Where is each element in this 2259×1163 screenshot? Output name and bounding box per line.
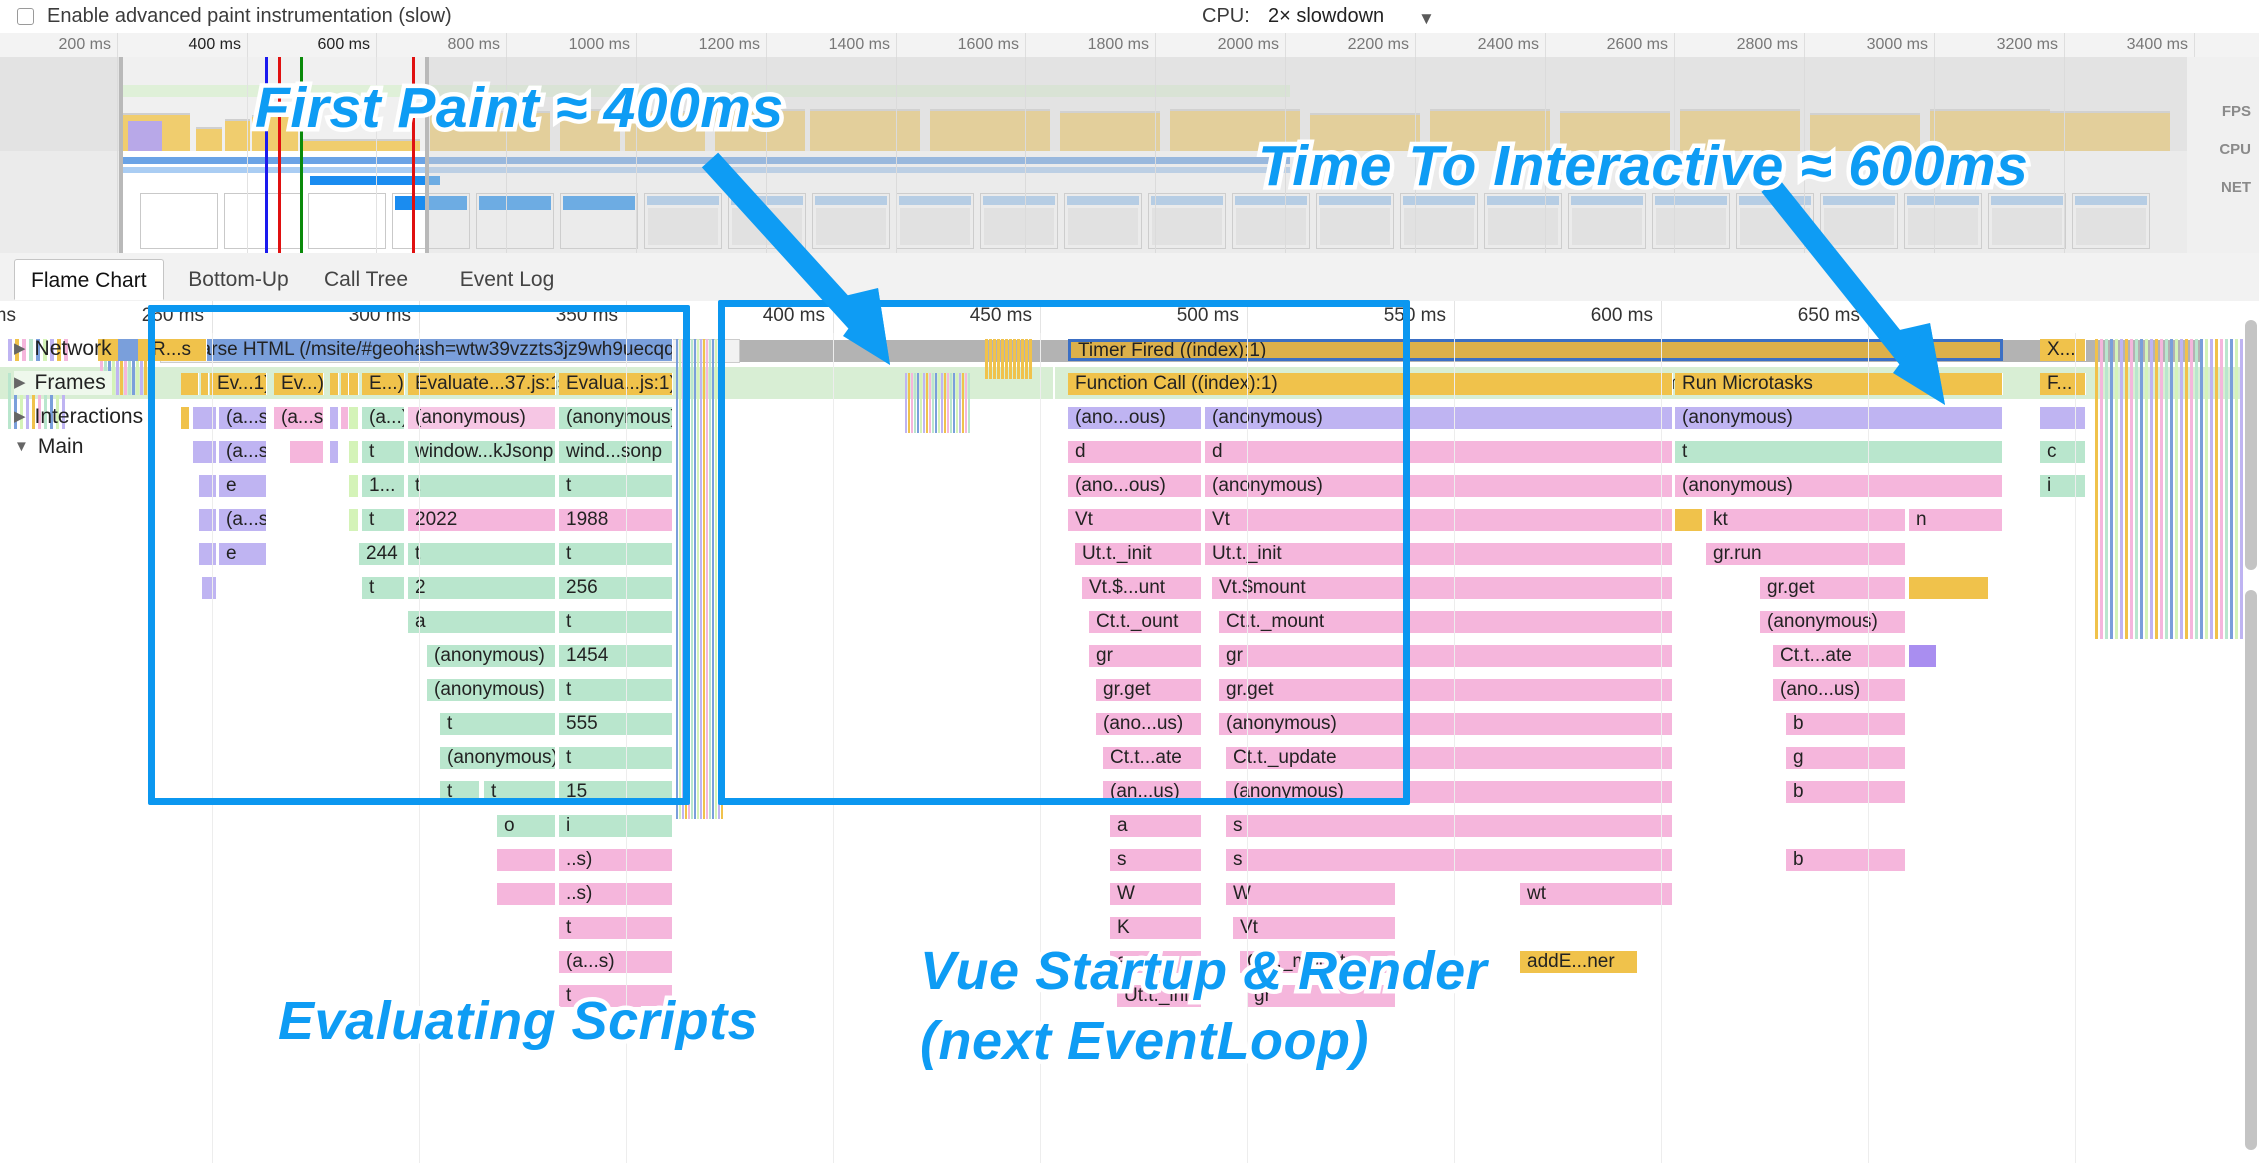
flame-micro-bar[interactable] xyxy=(8,373,11,429)
flame-left-bar[interactable]: (a...) xyxy=(362,407,405,429)
flame-left-bar[interactable] xyxy=(199,509,217,531)
flame-right-bar[interactable]: Vt xyxy=(1205,509,1673,531)
flame-right-bar[interactable]: b xyxy=(1786,713,1906,735)
overview-timeline-ruler[interactable]: 200 ms400 ms600 ms800 ms1000 ms1200 ms14… xyxy=(0,33,2259,58)
flame-right-bar[interactable]: W xyxy=(1226,883,1396,905)
flame-right-bar[interactable]: (ano...us) xyxy=(1096,713,1202,735)
flame-left-bar[interactable] xyxy=(199,543,217,565)
flame-left-bar[interactable]: 2022 xyxy=(408,509,556,531)
flame-left-bar[interactable]: 1... xyxy=(362,475,405,497)
flame-left-bar[interactable] xyxy=(290,441,324,463)
flame-left-bar[interactable]: o xyxy=(497,815,556,837)
track-label-interactions[interactable]: ▶Interactions xyxy=(14,405,143,429)
overview-ruler-label: 400 ms xyxy=(189,36,247,54)
flame-right-bar[interactable]: gr.run xyxy=(1706,543,1906,565)
flame-right-bar[interactable]: Ut.t._init xyxy=(1205,543,1673,565)
flame-left-bar[interactable]: ..s) xyxy=(559,849,673,871)
cpu-throttling-select[interactable]: 2× slowdown xyxy=(1268,5,1384,28)
flame-left-bar[interactable]: t xyxy=(559,917,673,939)
track-name-text: Main xyxy=(38,435,84,458)
flame-right-bar[interactable]: (anonymous) xyxy=(1675,475,2003,497)
flame-right-bar[interactable]: (anonymous) xyxy=(1205,407,1673,429)
flame-micro-bar[interactable] xyxy=(691,339,693,819)
flame-left-bar[interactable]: t xyxy=(440,713,556,735)
flame-left-bar[interactable]: 2 xyxy=(408,577,556,599)
flame-left-bar[interactable]: (anonymous) xyxy=(427,645,556,667)
flame-right-bar[interactable]: gr.get xyxy=(1219,679,1673,701)
flame-left-bar[interactable]: Evalua...js:1) xyxy=(559,373,673,395)
chevron-right-icon[interactable]: ▶ xyxy=(14,373,26,391)
flame-left-bar[interactable]: i xyxy=(559,815,673,837)
flame-left-bar[interactable]: window...kJsonp xyxy=(408,441,556,463)
overview-ruler-label: 600 ms xyxy=(318,36,376,54)
tab-bottom-up[interactable]: Bottom-Up xyxy=(172,259,304,300)
flame-micro-bar[interactable] xyxy=(2175,339,2178,639)
flame-left-bar[interactable]: (a...s) xyxy=(274,407,324,429)
flame-micro-bar[interactable] xyxy=(2130,339,2133,639)
flame-far-right-bar[interactable]: i xyxy=(2040,475,2086,497)
flame-micro-bar[interactable] xyxy=(2135,339,2138,639)
flame-left-bar[interactable]: (a...s) xyxy=(559,951,673,973)
flame-right-bar[interactable]: (anonymous) xyxy=(1226,781,1673,803)
flame-left-bar[interactable]: a xyxy=(408,611,556,633)
overview-ruler-label: 3200 ms xyxy=(1997,36,2064,54)
flame-left-bar[interactable]: (a...s) xyxy=(219,407,267,429)
flame-right-bar[interactable]: W xyxy=(1110,883,1202,905)
flame-micro-bar[interactable] xyxy=(932,373,934,433)
flame-left-bar[interactable]: t xyxy=(559,747,673,769)
flame-right-bar[interactable]: g xyxy=(1786,747,1906,769)
overview-track-labels: FPS CPU NET xyxy=(2187,57,2259,253)
flame-micro-bar[interactable] xyxy=(697,339,699,819)
flame-micro-bar[interactable] xyxy=(1029,339,1032,379)
overview-ruler-label: 2800 ms xyxy=(1737,36,1804,54)
flame-left-bar[interactable]: (anonymous) xyxy=(427,679,556,701)
flame-micro-bar[interactable] xyxy=(2150,339,2153,639)
flame-right-bar[interactable]: s xyxy=(1226,849,1673,871)
flame-left-bar[interactable]: 1988 xyxy=(559,509,673,531)
flame-left-bar[interactable]: t xyxy=(408,475,556,497)
flame-left-bar[interactable]: t xyxy=(559,611,673,633)
flame-ruler-tick xyxy=(1661,301,1662,333)
overview-ruler-label: 1200 ms xyxy=(699,36,766,54)
flame-micro-bar[interactable] xyxy=(2145,339,2148,639)
flame-micro-bar[interactable] xyxy=(1013,339,1016,379)
flame-left-bar[interactable]: E...) xyxy=(362,373,405,395)
flame-micro-bar[interactable] xyxy=(2200,339,2203,639)
flame-right-bar[interactable]: K xyxy=(1110,917,1202,939)
flame-right-bar[interactable]: b xyxy=(1786,849,1906,871)
flame-micro-bar[interactable] xyxy=(968,373,970,433)
flame-left-bar[interactable]: 15 xyxy=(559,781,673,803)
flame-left-bar[interactable] xyxy=(497,883,556,905)
flame-micro-bar[interactable] xyxy=(944,373,946,433)
flame-ruler-label: 350 ms xyxy=(556,305,626,327)
track-name-text: Network xyxy=(35,337,112,360)
flame-left-bar[interactable] xyxy=(199,475,217,497)
flame-right-bar[interactable]: (anonymous) xyxy=(1205,475,1673,497)
flame-micro-bar[interactable] xyxy=(950,373,952,433)
flame-gridline xyxy=(2075,333,2076,1163)
flame-left-bar[interactable] xyxy=(330,441,339,463)
overview-cpu-label: CPU xyxy=(2219,141,2251,158)
overview-net-label: NET xyxy=(2221,179,2251,196)
enable-advanced-paint-label[interactable]: Enable advanced paint instrumentation (s… xyxy=(47,5,452,28)
flame-gridline xyxy=(1454,333,1455,1163)
flame-micro-bar[interactable] xyxy=(2195,339,2198,639)
overview-ruler-tick xyxy=(1025,33,1026,57)
flame-right-bar[interactable]: Ct.t._update xyxy=(1226,747,1673,769)
flame-gridline xyxy=(1868,333,1869,1163)
flame-right-bar[interactable]: Function Call ((index):1) xyxy=(1068,373,1673,395)
track-name-text: Interactions xyxy=(35,405,144,428)
flame-left-bar[interactable] xyxy=(181,407,190,429)
top-toolbar: Enable advanced paint instrumentation (s… xyxy=(0,0,2259,34)
flame-micro-bar[interactable] xyxy=(959,373,961,433)
flame-micro-bar[interactable] xyxy=(2190,339,2193,639)
flame-micro-bar[interactable] xyxy=(926,373,928,433)
flame-micro-bar[interactable] xyxy=(938,373,940,433)
flame-gridline xyxy=(212,333,213,1163)
vertical-scrollbar[interactable] xyxy=(2245,590,2257,1150)
chevron-right-icon[interactable]: ▶ xyxy=(14,407,26,425)
overview-ruler-label: 2200 ms xyxy=(1348,36,1415,54)
flame-left-bar[interactable]: Ev...) xyxy=(274,373,324,395)
overview-ruler-tick xyxy=(506,33,507,57)
tab-event-log[interactable]: Event Log xyxy=(444,259,571,300)
flame-right-bar[interactable] xyxy=(1909,645,1937,667)
flame-micro-bar[interactable] xyxy=(694,339,696,819)
flame-ruler-tick xyxy=(1454,301,1455,333)
overview-ruler-tick xyxy=(2194,33,2195,57)
flame-left-bar[interactable]: 1454 xyxy=(559,645,673,667)
flame-ruler-label: 250 ms xyxy=(142,305,212,327)
cpu-throttling-label: CPU: xyxy=(1202,5,1250,28)
overview-ruler-tick xyxy=(247,33,248,57)
flame-micro-bar[interactable] xyxy=(1005,339,1008,379)
flame-left-bar[interactable]: 244 xyxy=(359,543,405,565)
flame-left-bar[interactable]: (a...s) xyxy=(219,441,267,463)
overview-ruler-label: 3000 ms xyxy=(1867,36,1934,54)
flame-left-bar[interactable]: t xyxy=(559,475,673,497)
flame-micro-bar[interactable] xyxy=(935,373,937,433)
overview-ruler-tick xyxy=(117,33,118,57)
chevron-right-icon[interactable]: ▶ xyxy=(14,339,26,357)
flame-micro-bar[interactable] xyxy=(1025,339,1028,379)
flame-left-bar[interactable] xyxy=(341,373,349,395)
flame-micro-bar[interactable] xyxy=(929,373,931,433)
overview-ruler-label: 200 ms xyxy=(59,36,117,54)
enable-advanced-paint-checkbox[interactable] xyxy=(17,8,34,25)
flame-micro-bar[interactable] xyxy=(2095,339,2098,639)
flame-right-bar[interactable]: (ano...ous) xyxy=(1068,407,1202,429)
flame-left-bar[interactable] xyxy=(193,441,217,463)
flame-left-bar[interactable] xyxy=(201,373,209,395)
flame-ruler-tick xyxy=(212,301,213,333)
overview-ruler-label: 1400 ms xyxy=(829,36,896,54)
flame-micro-bar[interactable] xyxy=(2125,339,2128,639)
flame-micro-bar[interactable] xyxy=(118,339,138,361)
flame-right-bar[interactable]: Ut.t._init xyxy=(1075,543,1202,565)
overview-ruler-tick xyxy=(636,33,637,57)
flame-left-bar[interactable]: Evaluate...37.js:1) xyxy=(408,373,556,395)
flame-ruler-label: 500 ms xyxy=(1177,305,1247,327)
overview-ruler-label: 800 ms xyxy=(448,36,506,54)
flame-left-bar[interactable]: R...s xyxy=(145,339,207,361)
flame-left-bar[interactable]: t xyxy=(362,509,405,531)
annotation-vue-startup-line2: (next EventLoop) xyxy=(920,1010,1369,1072)
flame-micro-bar[interactable] xyxy=(1017,339,1020,379)
flame-right-bar[interactable]: a xyxy=(1110,815,1202,837)
flame-micro-bar[interactable] xyxy=(676,339,678,819)
flame-micro-bar[interactable] xyxy=(688,339,690,819)
track-label-frames[interactable]: ▶Frames xyxy=(14,371,112,395)
chevron-down-icon[interactable]: ▼ xyxy=(14,438,29,455)
flame-micro-bar[interactable] xyxy=(2210,339,2213,639)
flame-right-bar[interactable]: s xyxy=(1110,849,1202,871)
flame-micro-bar[interactable] xyxy=(947,373,949,433)
flame-right-bar[interactable]: b xyxy=(1786,781,1906,803)
overview-ruler-tick xyxy=(2064,33,2065,57)
flame-left-bar[interactable] xyxy=(330,407,339,429)
flame-micro-bar[interactable] xyxy=(2220,339,2223,639)
flame-micro-bar[interactable] xyxy=(715,339,717,819)
overview-ruler-label: 2600 ms xyxy=(1607,36,1674,54)
track-label-network[interactable]: ▶Network xyxy=(14,337,112,361)
flame-micro-bar[interactable] xyxy=(682,339,684,819)
flame-right-bar[interactable]: (ano...ous) xyxy=(1068,475,1202,497)
flame-left-bar[interactable]: t xyxy=(559,679,673,701)
flame-micro-bar[interactable] xyxy=(2235,339,2238,639)
flame-micro-bar[interactable] xyxy=(941,373,943,433)
flame-left-bar[interactable] xyxy=(193,407,217,429)
flame-ruler-tick xyxy=(419,301,420,333)
flame-left-bar[interactable] xyxy=(349,475,359,497)
flame-micro-bar[interactable] xyxy=(923,373,925,433)
flame-right-bar[interactable]: gr xyxy=(1219,645,1673,667)
flame-micro-bar[interactable] xyxy=(2100,339,2103,639)
flame-left-bar[interactable]: 555 xyxy=(559,713,673,735)
flame-far-right-bar[interactable]: c xyxy=(2040,441,2086,463)
flame-left-bar[interactable]: e xyxy=(219,543,267,565)
flame-left-bar[interactable] xyxy=(349,509,359,531)
flame-left-bar[interactable]: Parse HTML (/msite/#geohash=wtw39vzzts3j… xyxy=(181,339,673,361)
flame-left-bar[interactable]: 256 xyxy=(559,577,673,599)
flame-micro-bar[interactable] xyxy=(2140,339,2143,639)
flame-micro-bar[interactable] xyxy=(911,373,913,433)
flame-micro-bar[interactable] xyxy=(953,373,955,433)
flame-gridline xyxy=(833,333,834,1163)
flame-micro-bar[interactable] xyxy=(679,339,681,819)
flame-micro-bar[interactable] xyxy=(1009,339,1012,379)
flame-micro-bar[interactable] xyxy=(2160,339,2163,639)
flame-left-bar[interactable]: t xyxy=(559,543,673,565)
flame-micro-bar[interactable] xyxy=(1021,339,1024,379)
flame-micro-bar[interactable] xyxy=(8,339,12,361)
flame-right-bar[interactable]: (anonymous) xyxy=(1219,713,1673,735)
overview-ruler-tick xyxy=(1934,33,1935,57)
flame-micro-bar[interactable] xyxy=(2185,339,2188,639)
flame-right-bar[interactable]: Ct.t...ate xyxy=(1103,747,1202,769)
overview-ruler-label: 1600 ms xyxy=(958,36,1025,54)
flame-left-bar[interactable] xyxy=(202,577,217,599)
flame-micro-bar[interactable] xyxy=(2205,339,2208,639)
flame-left-bar[interactable]: wind...sonp xyxy=(559,441,673,463)
tab-call-tree[interactable]: Call Tree xyxy=(308,259,424,300)
flame-left-bar[interactable] xyxy=(349,407,359,429)
overview-ruler-label: 1800 ms xyxy=(1088,36,1155,54)
tab-flame-chart[interactable]: Flame Chart xyxy=(14,259,164,300)
overview-fps-label: FPS xyxy=(2222,103,2251,120)
flame-micro-bar[interactable] xyxy=(703,339,705,819)
flame-micro-bar[interactable] xyxy=(2120,339,2123,639)
flame-left-bar[interactable]: e xyxy=(219,475,267,497)
flame-right-bar[interactable]: gr.get xyxy=(1096,679,1202,701)
flame-right-bar[interactable]: Vt.$...unt xyxy=(1082,577,1202,599)
flame-ruler-label: 600 ms xyxy=(1591,305,1661,327)
overview-ruler-tick xyxy=(1155,33,1156,57)
annotation-time-to-interactive: Time To Interactive ≈ 600ms xyxy=(1258,133,2028,199)
flame-ruler-label: 300 ms xyxy=(349,305,419,327)
flame-right-bar[interactable]: Ct.t._ount xyxy=(1089,611,1202,633)
flame-micro-bar[interactable] xyxy=(965,373,967,433)
flame-micro-bar[interactable] xyxy=(2115,339,2118,639)
flame-micro-bar[interactable] xyxy=(917,373,919,433)
flame-micro-bar[interactable] xyxy=(2225,339,2228,639)
flame-left-bar[interactable] xyxy=(349,441,359,463)
flame-micro-bar[interactable] xyxy=(2105,339,2108,639)
flame-right-bar[interactable]: addE...ner xyxy=(1520,951,1638,973)
overview-ruler-tick xyxy=(1804,33,1805,57)
flame-ruler-label: 550 ms xyxy=(1384,305,1454,327)
flame-right-bar[interactable]: Ct.t._mount xyxy=(1219,611,1673,633)
flame-right-bar[interactable]: t xyxy=(1675,441,2003,463)
flame-ruler-tick xyxy=(626,301,627,333)
overview-ruler-tick xyxy=(1415,33,1416,57)
flame-micro-bar[interactable] xyxy=(709,339,711,819)
flame-micro-bar[interactable] xyxy=(962,373,964,433)
flame-left-bar[interactable]: t xyxy=(408,543,556,565)
flame-right-bar[interactable]: Vt xyxy=(1068,509,1202,531)
flame-left-bar[interactable]: ..s) xyxy=(559,883,673,905)
arrow-time-to-interactive xyxy=(1760,175,2060,435)
overview-ruler-tick xyxy=(766,33,767,57)
flame-left-bar[interactable] xyxy=(330,373,339,395)
flame-left-bar[interactable]: t xyxy=(484,781,556,803)
flame-right-bar[interactable]: (anonymous) xyxy=(1760,611,1906,633)
flame-right-bar[interactable] xyxy=(1909,577,1989,599)
flame-right-bar[interactable]: (ano...us) xyxy=(1773,679,1906,701)
flame-micro-bar[interactable] xyxy=(2230,339,2233,639)
flame-micro-bar[interactable] xyxy=(1001,339,1004,379)
overview-dim-left xyxy=(0,57,119,253)
track-name-text: Frames xyxy=(35,371,106,394)
flame-micro-bar[interactable] xyxy=(718,339,720,819)
flame-micro-bar[interactable] xyxy=(2110,339,2113,639)
flame-right-bar[interactable]: gr xyxy=(1089,645,1202,667)
flame-micro-bar[interactable] xyxy=(700,339,702,819)
flame-gridline xyxy=(1661,333,1662,1163)
flame-left-bar[interactable]: (anonymous) xyxy=(559,407,673,429)
overview-ruler-tick xyxy=(896,33,897,57)
overview-ruler-label: 1000 ms xyxy=(569,36,636,54)
flame-right-bar[interactable] xyxy=(1675,509,1703,531)
flame-right-bar[interactable]: wt xyxy=(1520,883,1673,905)
flame-left-bar[interactable] xyxy=(349,373,359,395)
flame-left-bar[interactable]: (anonymous) xyxy=(440,747,556,769)
flame-left-bar[interactable]: Ev...1) xyxy=(210,373,267,395)
flame-micro-bar[interactable] xyxy=(2240,339,2243,639)
track-label-main[interactable]: ▼Main xyxy=(14,435,83,459)
flame-ruler-label: ms xyxy=(0,305,24,327)
flame-right-bar[interactable]: gr.get xyxy=(1760,577,1906,599)
flame-right-bar[interactable]: kt xyxy=(1706,509,1906,531)
arrow-first-paint xyxy=(700,150,1000,380)
overview-ruler-label: 3400 ms xyxy=(2127,36,2194,54)
flame-ruler-tick xyxy=(1040,301,1041,333)
flame-left-bar[interactable]: t xyxy=(362,441,405,463)
flame-micro-bar[interactable] xyxy=(712,339,714,819)
flame-micro-bar[interactable] xyxy=(956,373,958,433)
flame-right-bar[interactable]: Vt xyxy=(1233,917,1396,939)
overview-ruler-tick xyxy=(1674,33,1675,57)
flame-micro-bar[interactable] xyxy=(2180,339,2183,639)
flame-micro-bar[interactable] xyxy=(2170,339,2173,639)
flame-left-bar[interactable] xyxy=(497,849,556,871)
flame-left-bar[interactable] xyxy=(341,407,349,429)
annotation-first-paint: First Paint ≈ 400ms xyxy=(255,75,784,141)
flame-micro-bar[interactable] xyxy=(914,373,916,433)
flame-right-bar[interactable]: Ct.t...ate xyxy=(1773,645,1906,667)
flame-left-bar[interactable]: (a...s) xyxy=(219,509,267,531)
chevron-down-icon[interactable]: ▼ xyxy=(1418,9,1435,29)
flame-micro-bar[interactable] xyxy=(2165,339,2168,639)
flame-right-bar[interactable]: (an...us) xyxy=(1103,781,1202,803)
annotation-evaluating-scripts: Evaluating Scripts xyxy=(278,990,758,1052)
flame-ruler-tick xyxy=(1247,301,1248,333)
flame-micro-bar[interactable] xyxy=(2215,339,2218,639)
flame-micro-bar[interactable] xyxy=(908,373,910,433)
flame-left-bar[interactable]: (anonymous) xyxy=(408,407,556,429)
flame-micro-bar[interactable] xyxy=(905,373,907,433)
flame-right-bar[interactable]: Vt.$mount xyxy=(1212,577,1673,599)
flame-right-bar[interactable]: d xyxy=(1068,441,1202,463)
flame-micro-bar[interactable] xyxy=(685,339,687,819)
flame-right-bar[interactable]: d xyxy=(1205,441,1673,463)
overview-ruler-label: 2000 ms xyxy=(1218,36,1285,54)
overview-ruler-label: 2400 ms xyxy=(1478,36,1545,54)
flame-micro-bar[interactable] xyxy=(706,339,708,819)
flame-micro-bar[interactable] xyxy=(721,339,723,819)
flame-micro-bar[interactable] xyxy=(920,373,922,433)
annotation-vue-startup-line1: Vue Startup & Render xyxy=(920,940,1487,1002)
overview-ruler-tick xyxy=(376,33,377,57)
flame-micro-bar[interactable] xyxy=(2155,339,2158,639)
vertical-scrollbar-top[interactable] xyxy=(2245,320,2257,570)
flame-right-bar[interactable]: n xyxy=(1909,509,2003,531)
overview-ruler-tick xyxy=(1285,33,1286,57)
flame-left-bar[interactable] xyxy=(181,373,199,395)
flame-left-bar[interactable]: t xyxy=(362,577,405,599)
flame-left-bar[interactable]: t xyxy=(440,781,480,803)
overview-ruler-tick xyxy=(1545,33,1546,57)
flame-right-bar[interactable]: s xyxy=(1226,815,1673,837)
